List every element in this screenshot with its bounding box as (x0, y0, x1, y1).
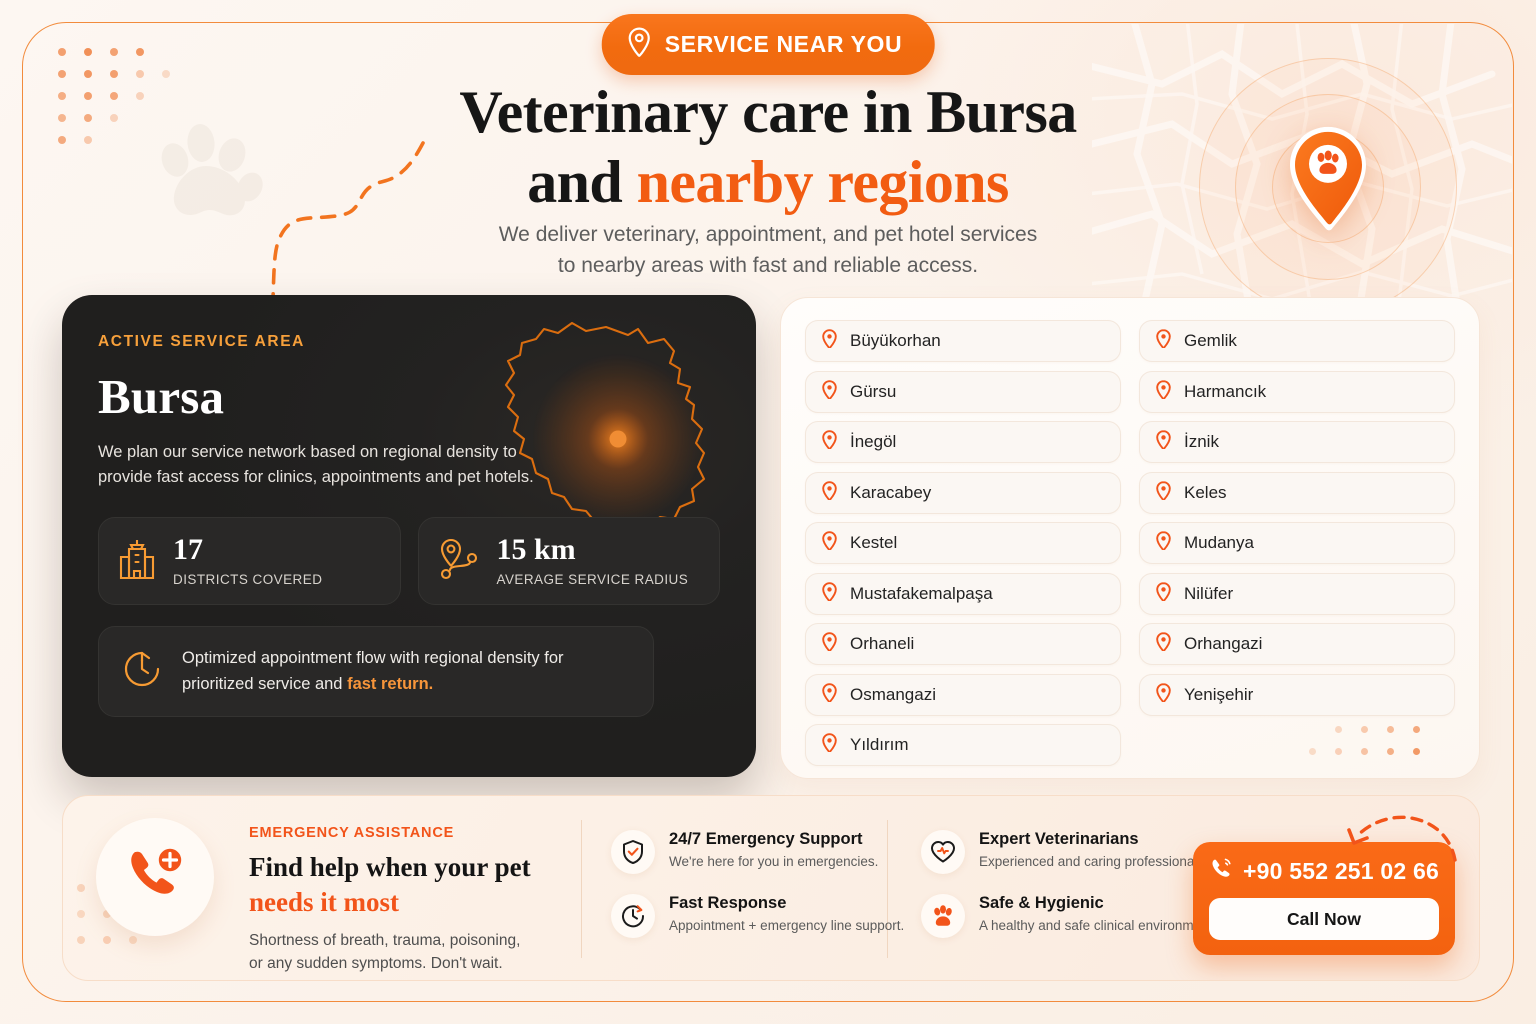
district-chip[interactable]: Orhangazi (1139, 623, 1455, 665)
district-label: Gürsu (850, 382, 896, 402)
note-highlight: fast return. (347, 675, 433, 693)
emergency-phone-avatar (96, 818, 214, 936)
headline-line-1: Veterinary care in Bursa (459, 79, 1076, 145)
shield-check-icon (611, 830, 655, 874)
districts-column-right: GemlikHarmancıkİznikKelesMudanyaNilüferO… (1139, 320, 1455, 766)
feature-item: Expert Veterinarians Experienced and car… (913, 820, 1223, 884)
district-chip[interactable]: Orhaneli (805, 623, 1121, 665)
map-pin-icon (1156, 481, 1171, 505)
districts-panel: BüyükorhanGürsuİnegölKaracabeyKestelMust… (780, 297, 1480, 779)
page-root: SERVICE NEAR YOU Veterinary care in Burs… (0, 0, 1536, 1024)
district-label: Yıldırım (850, 735, 909, 755)
district-label: Büyükorhan (850, 331, 941, 351)
district-label: Osmangazi (850, 685, 936, 705)
district-chip[interactable]: İnegöl (805, 421, 1121, 463)
map-pin-icon (822, 582, 837, 606)
district-chip[interactable]: Yenişehir (1139, 674, 1455, 716)
districts-column-left: BüyükorhanGürsuİnegölKaracabeyKestelMust… (805, 320, 1121, 766)
stat-label: AVERAGE SERVICE RADIUS (497, 572, 689, 587)
feature-title: Expert Veterinarians (979, 830, 1208, 849)
optimized-flow-note: Optimized appointment flow with regional… (98, 626, 654, 717)
emergency-title-line-2: needs it most (249, 887, 399, 917)
feature-subtitle: We're here for you in emergencies. (669, 854, 878, 869)
district-chip[interactable]: Nilüfer (1139, 573, 1455, 615)
headline-line-2-accent: nearby regions (637, 149, 1009, 215)
active-service-area-card: ACTIVE SERVICE AREA Bursa We plan our se… (62, 295, 756, 777)
emergency-desc-line-1: Shortness of breath, trauma, poisoning, (249, 932, 520, 949)
subtitle-line-1: We deliver veterinary, appointment, and … (499, 223, 1038, 246)
stat-label: DISTRICTS COVERED (173, 572, 322, 587)
map-pin-icon (822, 481, 837, 505)
feature-title: 24/7 Emergency Support (669, 830, 878, 849)
page-subtitle: We deliver veterinary, appointment, and … (0, 219, 1536, 281)
district-label: Orhangazi (1184, 634, 1262, 654)
district-chip[interactable]: Gemlik (1139, 320, 1455, 362)
district-chip[interactable]: Mustafakemalpaşa (805, 573, 1121, 615)
stat-value: 17 (173, 535, 322, 565)
map-pin-icon (822, 531, 837, 555)
feature-title: Safe & Hygienic (979, 894, 1216, 913)
emergency-title: Find help when your pet needs it most (249, 850, 594, 919)
stat-districts-covered: 17 DISTRICTS COVERED (98, 517, 401, 605)
map-pin-icon (628, 27, 651, 62)
badge-label: SERVICE NEAR YOU (665, 31, 903, 58)
curved-arrow-decoration (1343, 812, 1461, 869)
stat-average-service-radius: 15 km AVERAGE SERVICE RADIUS (418, 517, 721, 605)
emergency-description: Shortness of breath, trauma, poisoning, … (249, 929, 594, 976)
service-area-kicker: ACTIVE SERVICE AREA (98, 333, 720, 351)
district-label: İnegöl (850, 432, 896, 452)
district-label: Yenişehir (1184, 685, 1253, 705)
emergency-desc-line-2: or any sudden symptoms. Don't wait. (249, 955, 503, 972)
district-label: Keles (1184, 483, 1227, 503)
phone-ring-icon (1209, 856, 1233, 886)
emergency-bottom-bar: EMERGENCY ASSISTANCE Find help when your… (62, 795, 1480, 981)
district-chip[interactable]: Mudanya (1139, 522, 1455, 564)
district-chip[interactable]: Keles (1139, 472, 1455, 514)
district-chip[interactable]: Karacabey (805, 472, 1121, 514)
map-pin-icon (1156, 329, 1171, 353)
clock-rotate-icon (121, 648, 163, 695)
clock-fast-icon (611, 894, 655, 938)
route-pin-icon (437, 537, 481, 586)
map-pin-icon (1156, 582, 1171, 606)
feature-subtitle: Appointment + emergency line support. (669, 918, 904, 933)
district-label: Orhaneli (850, 634, 914, 654)
map-pin-icon (822, 733, 837, 757)
divider-1 (581, 820, 582, 958)
district-chip[interactable]: Harmancık (1139, 371, 1455, 413)
map-pin-icon (1156, 430, 1171, 454)
stat-value: 15 km (497, 535, 689, 565)
emergency-text-block: EMERGENCY ASSISTANCE Find help when your… (249, 825, 594, 976)
subtitle-line-2: to nearby areas with fast and reliable a… (558, 254, 978, 277)
building-icon (117, 537, 157, 586)
district-chip[interactable]: Yıldırım (805, 724, 1121, 766)
map-pin-icon (822, 632, 837, 656)
service-area-description: We plan our service network based on reg… (98, 440, 546, 490)
feature-title: Fast Response (669, 894, 904, 913)
map-pin-icon (1156, 683, 1171, 707)
district-label: İznik (1184, 432, 1219, 452)
service-area-stats: 17 DISTRICTS COVERED (98, 517, 720, 605)
district-label: Mustafakemalpaşa (850, 584, 993, 604)
feature-subtitle: A healthy and safe clinical environment. (979, 918, 1216, 933)
map-pin-icon (1156, 531, 1171, 555)
heart-pulse-icon (921, 830, 965, 874)
features-grid: 24/7 Emergency Support We're here for yo… (603, 820, 1223, 948)
district-label: Nilüfer (1184, 584, 1233, 604)
district-label: Harmancık (1184, 382, 1266, 402)
map-pin-icon (822, 683, 837, 707)
paw-icon (921, 894, 965, 938)
map-pin-icon (822, 430, 837, 454)
feature-subtitle: Experienced and caring professionals. (979, 854, 1208, 869)
feature-item: Safe & Hygienic A healthy and safe clini… (913, 884, 1223, 948)
map-pin-icon (1156, 380, 1171, 404)
district-chip[interactable]: Osmangazi (805, 674, 1121, 716)
map-pin-icon (822, 380, 837, 404)
headline-line-2-plain: and (527, 149, 636, 215)
phone-plus-icon (122, 842, 188, 913)
district-chip[interactable]: Gürsu (805, 371, 1121, 413)
page-title: Veterinary care in Bursa and nearby regi… (0, 78, 1536, 217)
district-label: Gemlik (1184, 331, 1237, 351)
call-now-button[interactable]: Call Now (1209, 898, 1439, 940)
district-label: Mudanya (1184, 533, 1254, 553)
map-pin-icon (1156, 632, 1171, 656)
map-pin-icon (822, 329, 837, 353)
district-label: Karacabey (850, 483, 931, 503)
district-chip[interactable]: Kestel (805, 522, 1121, 564)
district-label: Kestel (850, 533, 897, 553)
emergency-kicker: EMERGENCY ASSISTANCE (249, 825, 594, 841)
service-near-you-badge[interactable]: SERVICE NEAR YOU (602, 14, 935, 75)
feature-item: Fast Response Appointment + emergency li… (603, 884, 913, 948)
district-chip[interactable]: İznik (1139, 421, 1455, 463)
feature-item: 24/7 Emergency Support We're here for yo… (603, 820, 913, 884)
emergency-title-line-1: Find help when your pet (249, 852, 531, 882)
district-chip[interactable]: Büyükorhan (805, 320, 1121, 362)
service-area-city: Bursa (98, 368, 720, 425)
